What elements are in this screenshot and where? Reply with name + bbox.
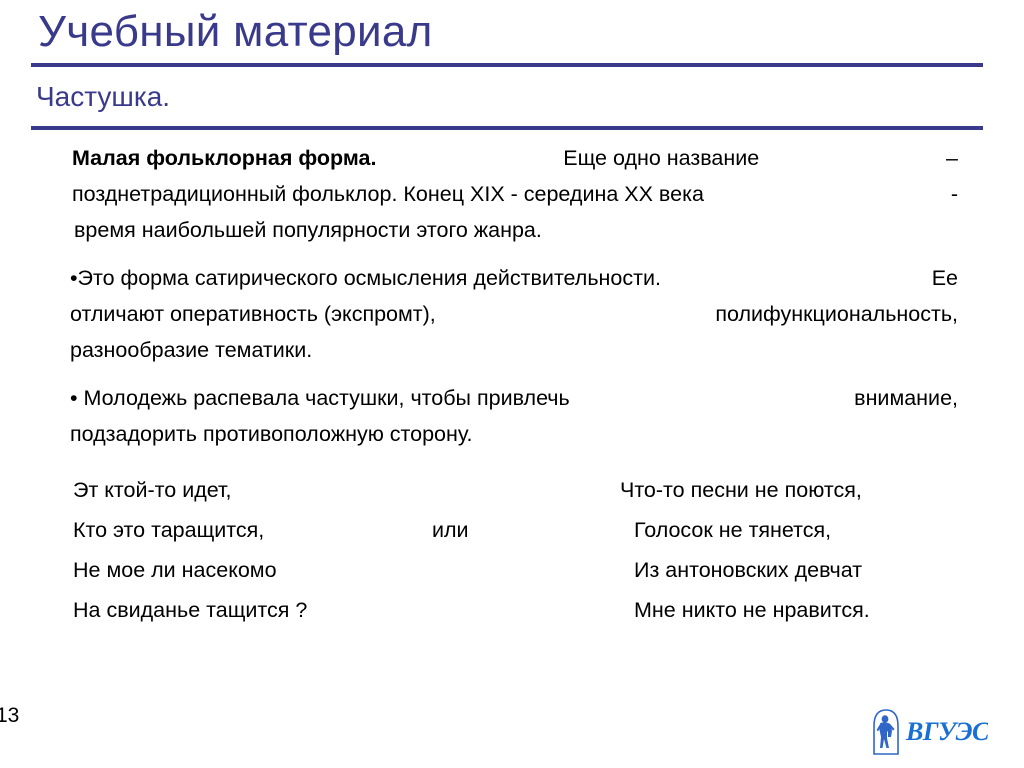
logo-wordmark: ВГУЭС	[905, 717, 988, 746]
bullet-glyph-icon: • Молодежь распевала частушки, чтобы при…	[70, 380, 570, 416]
title-divider-bottom	[31, 126, 983, 130]
verse-line: Из антоновских девчат	[620, 550, 870, 590]
verse-line: Эт ктой-то идет,	[73, 470, 307, 510]
paragraph-satire: •Это форма сатирического осмысления дейс…	[70, 260, 958, 368]
chastushka-verses: Эт ктой-то идет, Кто это таращится, Не м…	[0, 470, 1024, 640]
title-divider-top	[31, 63, 983, 67]
paragraph-line-tail: полифункциональность,	[715, 296, 958, 332]
paragraph-lead-bold: Малая фольклорная форма.	[70, 140, 376, 176]
paragraph-line-text: время наибольшей популярности этого жанр…	[72, 212, 542, 248]
paragraph-spacer	[70, 249, 958, 260]
page-title: Учебный материал	[38, 6, 978, 58]
verse-line: Кто это таращится,	[73, 510, 307, 550]
paragraph-definition: Малая фольклорная форма. Еще одно назван…	[70, 140, 958, 248]
verse-line: Голосок не тянется,	[620, 510, 870, 550]
vsues-logo-icon: ВГУЭС	[866, 704, 988, 760]
paragraph-line-tail: Ее	[932, 260, 958, 296]
lead-bold-text: Малая фольклорная форма.	[72, 146, 376, 170]
body-content: Малая фольклорная форма. Еще одно назван…	[70, 140, 958, 453]
paragraph-line-tail: -	[949, 176, 958, 212]
paragraph-line-tail: внимание,	[854, 380, 958, 416]
paragraph-spacer	[70, 369, 958, 380]
slide: Учебный материал Частушка. Малая фолькло…	[0, 0, 1024, 768]
paragraph-line-tail: –	[944, 140, 958, 176]
paragraph-line-rest: Еще одно название	[561, 140, 759, 176]
verse-column-right: Что-то песни не поются, Голосок не тянет…	[620, 470, 870, 630]
verse-column-left: Эт ктой-то идет, Кто это таращится, Не м…	[73, 470, 307, 630]
verse-line: На свиданье тащится ?	[73, 590, 307, 630]
paragraph-line: отличают оперативность (экспромт), полиф…	[70, 296, 958, 332]
bullet-char: •	[70, 386, 78, 410]
paragraph-line: позднетрадиционный фольклор. Конец XIX -…	[70, 176, 958, 212]
verse-joiner-label: или	[432, 510, 469, 550]
paragraph-line: •Это форма сатирического осмысления дейс…	[70, 260, 958, 296]
verse-line: Не мое ли насекомо	[73, 550, 307, 590]
paragraph-line-text: Молодежь распевала частушки, чтобы привл…	[84, 386, 570, 410]
svg-text:ВГУЭС: ВГУЭС	[905, 717, 988, 746]
vsues-logo: ВГУЭС	[866, 704, 988, 760]
paragraph-line-text: Это форма сатирического осмысления дейст…	[78, 266, 661, 290]
bullet-glyph-icon: •Это форма сатирического осмысления дейс…	[70, 260, 661, 296]
paragraph-line-text: подзадорить противоположную сторону.	[70, 416, 472, 452]
paragraph-line-text: разнообразие тематики.	[70, 332, 312, 368]
verse-line: Мне никто не нравится.	[620, 590, 870, 630]
paragraph-line: разнообразие тематики.	[70, 332, 958, 368]
paragraph-line-text: позднетрадиционный фольклор. Конец XIX -…	[70, 176, 704, 212]
paragraph-youth: • Молодежь распевала частушки, чтобы при…	[70, 380, 958, 452]
paragraph-line: • Молодежь распевала частушки, чтобы при…	[70, 380, 958, 416]
paragraph-line: время наибольшей популярности этого жанр…	[70, 212, 958, 248]
page-number: 13	[0, 703, 19, 729]
verse-line: Что-то песни не поются,	[620, 470, 870, 510]
paragraph-line: Малая фольклорная форма. Еще одно назван…	[70, 140, 958, 176]
bullet-char: •	[70, 266, 78, 290]
slide-subtitle: Частушка.	[36, 79, 976, 115]
paragraph-line-text: отличают оперативность (экспромт),	[70, 296, 436, 332]
paragraph-line: подзадорить противоположную сторону.	[70, 416, 958, 452]
